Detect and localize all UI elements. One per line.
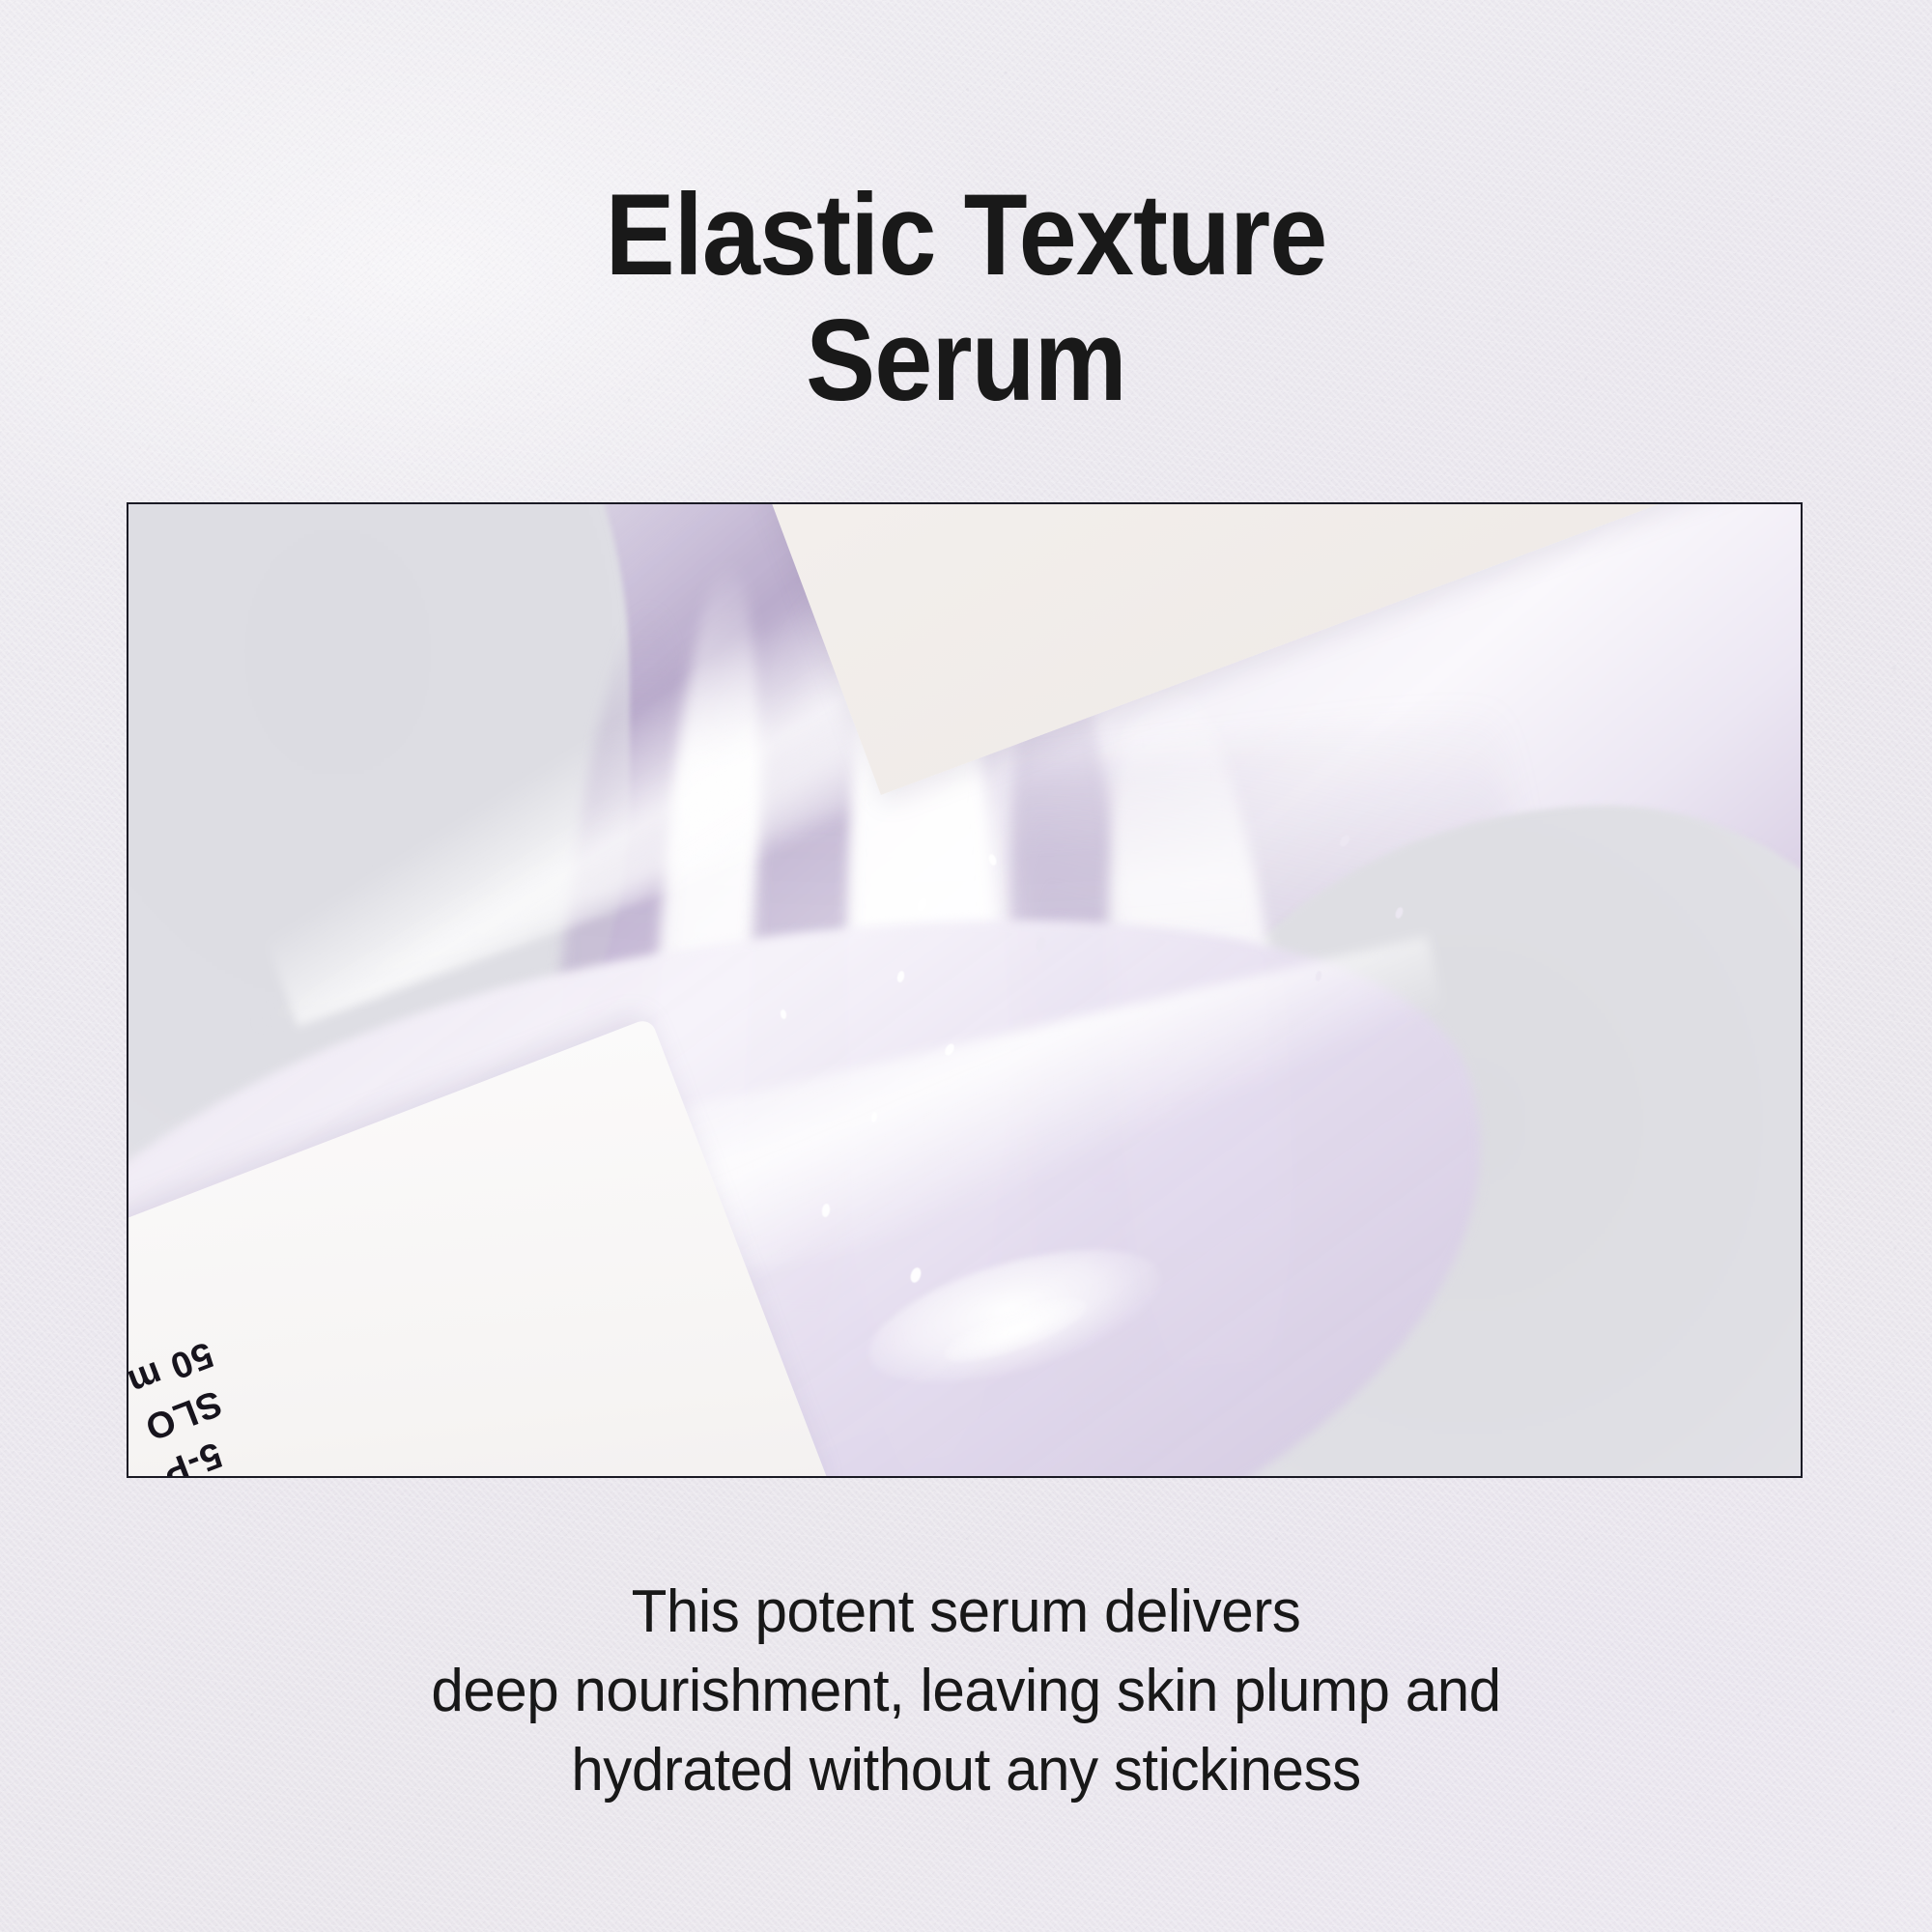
page-title-line-1: Elastic Texture <box>606 170 1327 299</box>
page-title-line-2: Serum <box>97 298 1835 423</box>
carton-label-bottom-left: 5-P SLO 50 m <box>128 1329 254 1476</box>
description-line-3: hydrated without any stickiness <box>29 1731 1903 1810</box>
serum-texture-photo: 5-PEPTIDE CO SLOWS AG 5-P SLO 50 m <box>127 502 1803 1478</box>
description-line-2: deep nourishment, leaving skin plump and <box>29 1652 1903 1731</box>
product-detail-page: Elastic Texture Serum <box>0 0 1932 1932</box>
photo-inner: 5-PEPTIDE CO SLOWS AG 5-P SLO 50 m <box>128 504 1801 1476</box>
product-description: This potent serum delivers deep nourishm… <box>29 1573 1903 1810</box>
description-line-1: This potent serum delivers <box>29 1573 1903 1652</box>
page-title: Elastic Texture Serum <box>97 172 1835 423</box>
